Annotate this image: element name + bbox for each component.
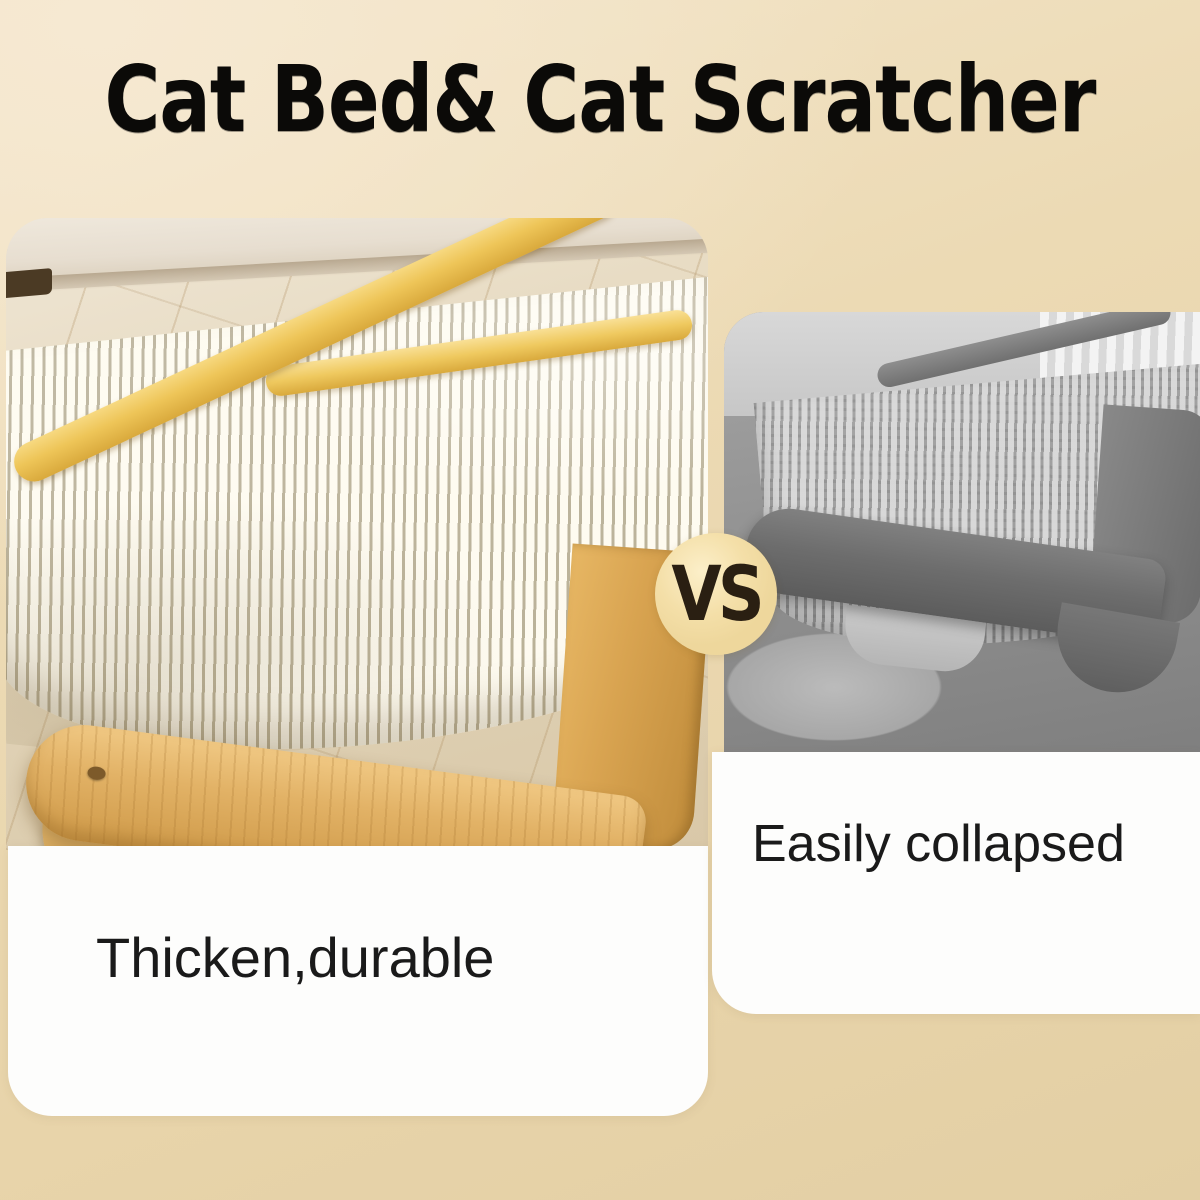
vs-badge-icon: VS xyxy=(655,533,777,655)
right-caption-card: Easily collapsed xyxy=(712,752,1200,1014)
vs-badge-label: VS xyxy=(671,556,760,632)
product-comparison-poster: Cat Bed& Cat Scratcher xyxy=(0,0,1200,1200)
page-title: Cat Bed& Cat Scratcher xyxy=(48,52,1152,148)
left-caption-card: Thicken,durable xyxy=(8,846,708,1116)
left-caption-text: Thicken,durable xyxy=(96,926,494,990)
right-caption-text: Easily collapsed xyxy=(752,814,1125,874)
left-product-photo xyxy=(6,218,708,850)
left-photo-baseboard xyxy=(6,268,52,298)
right-product-photo xyxy=(724,312,1200,752)
